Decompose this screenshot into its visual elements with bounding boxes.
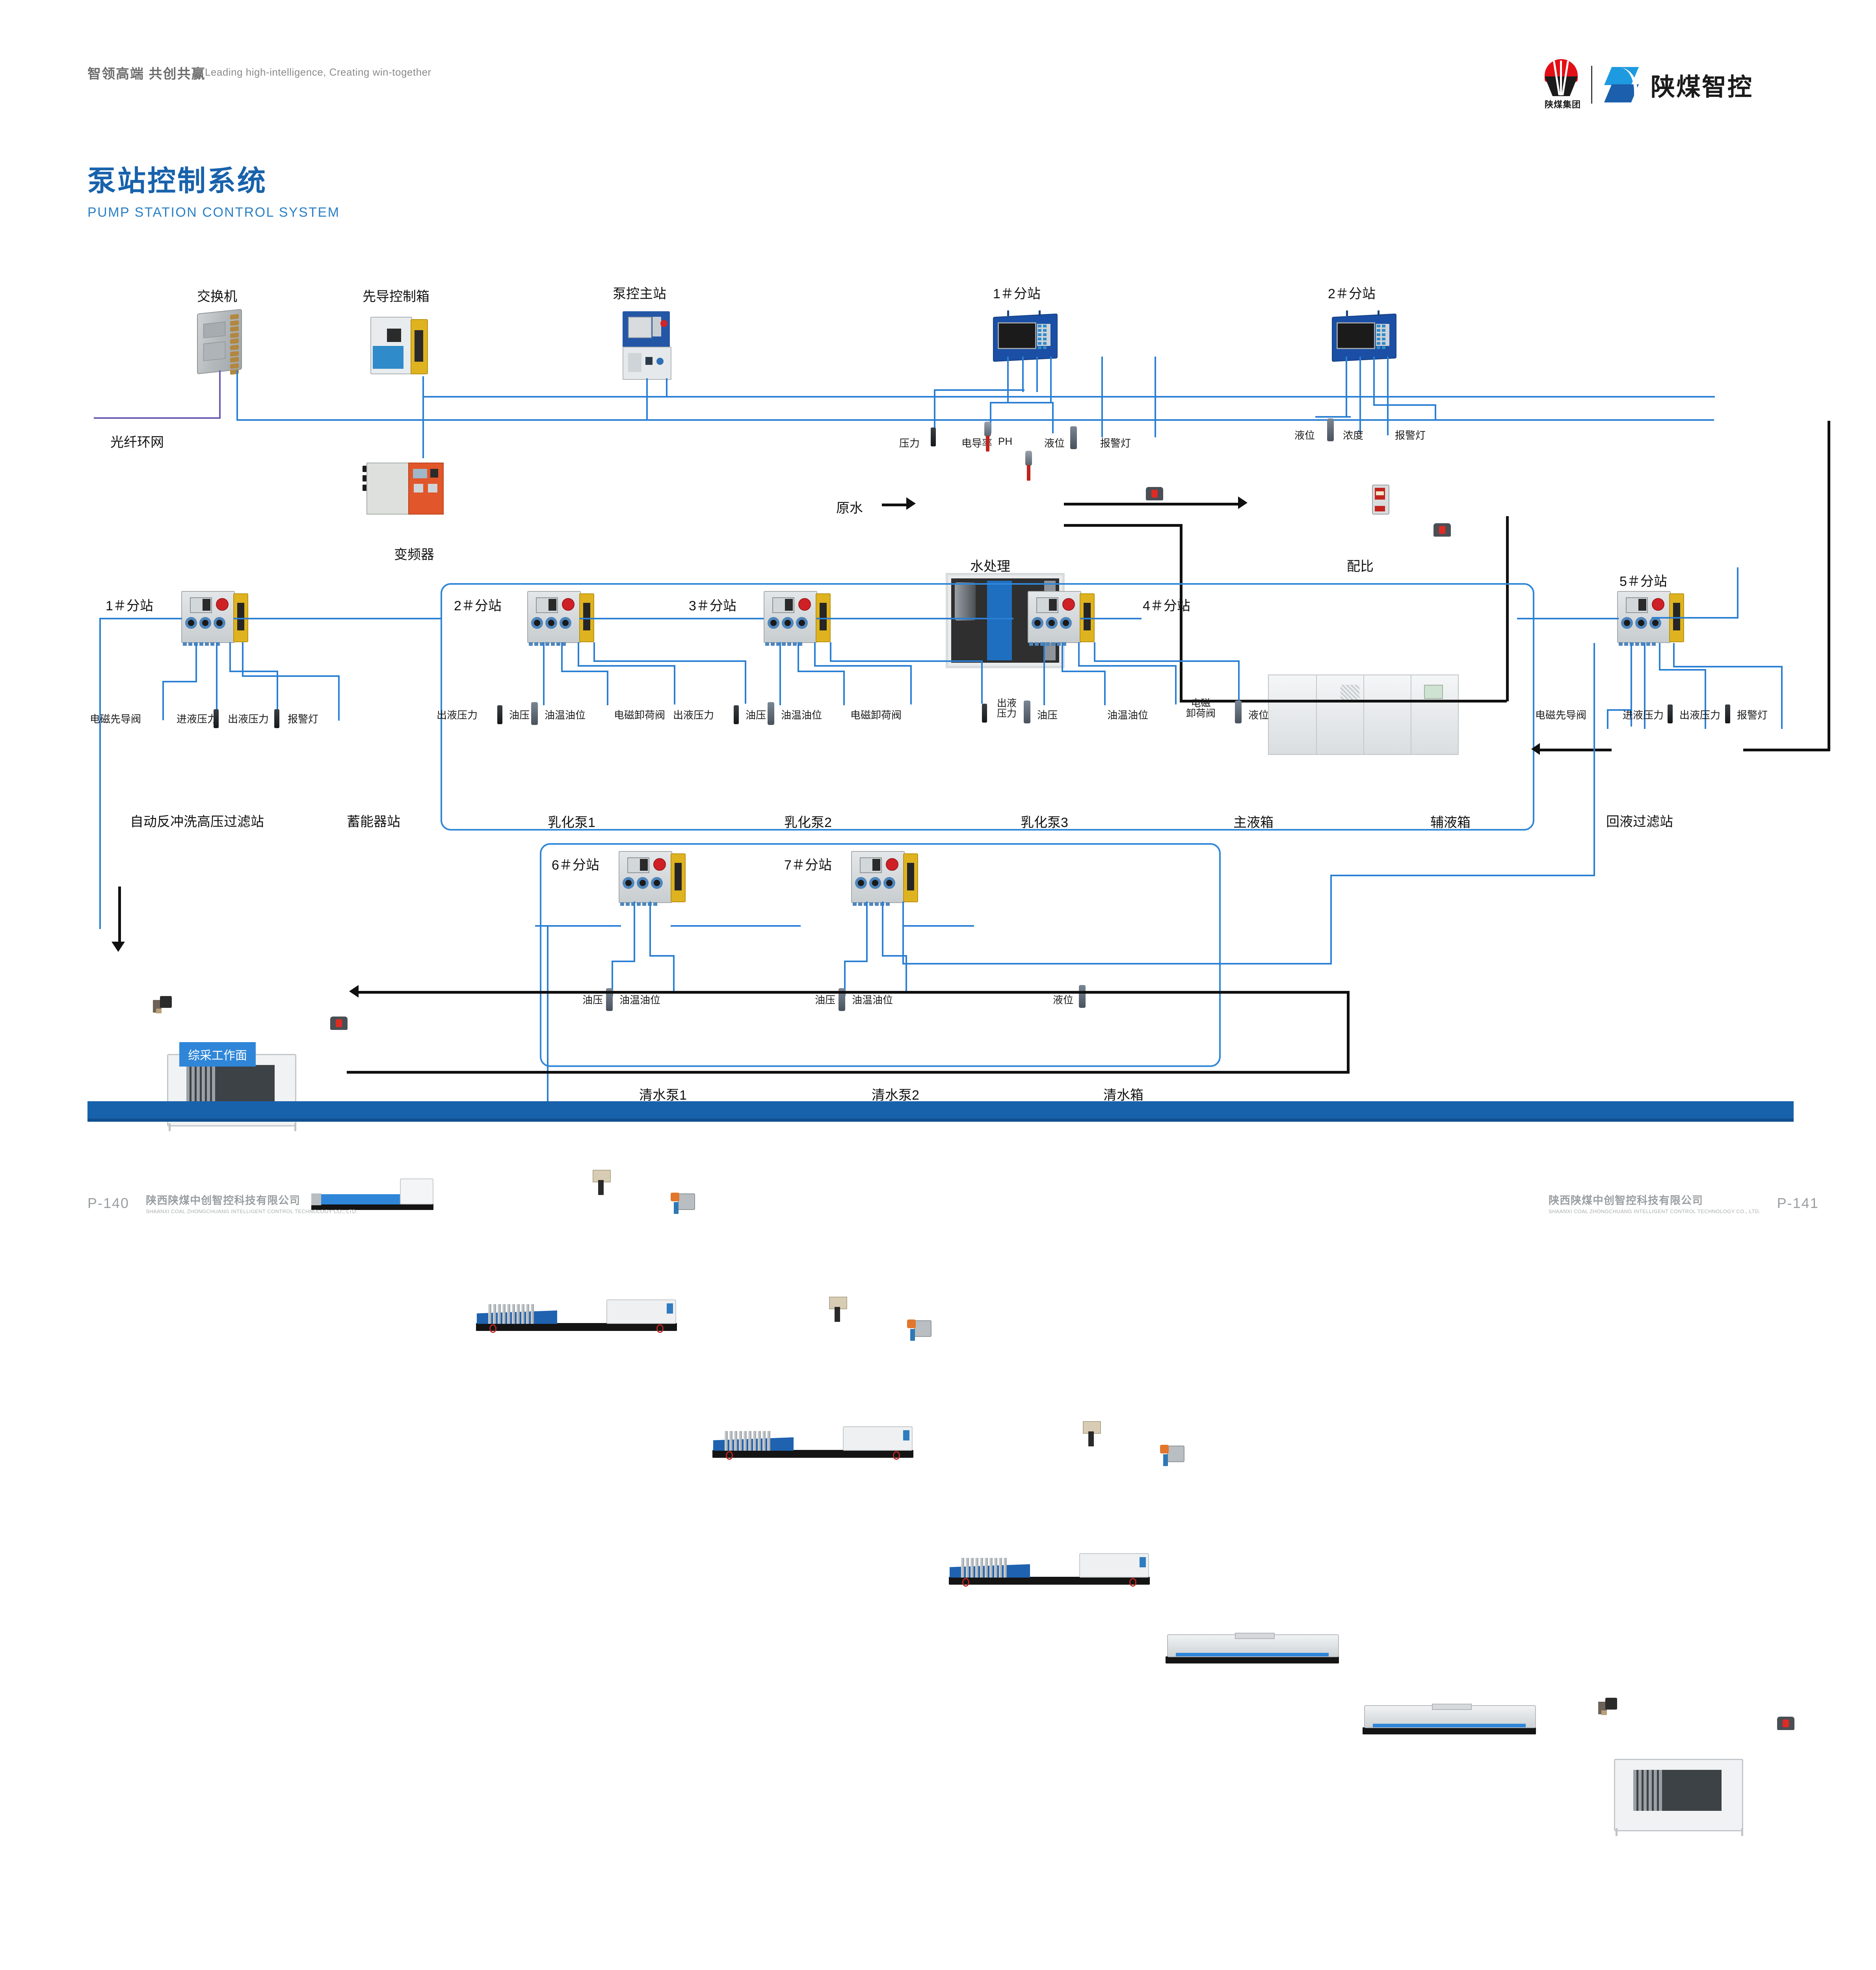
page-number-left: P-140	[87, 1195, 129, 1212]
label-top-substation-2: 2＃分站	[1328, 283, 1376, 302]
device-emulsion-pump-2	[712, 1379, 913, 1458]
outlet-pressure-icon-3	[734, 705, 739, 724]
device-return-filter	[1612, 1757, 1742, 1836]
wire-sub5-v1	[1607, 709, 1608, 729]
wire-sub5-d3	[1659, 643, 1660, 671]
label-substation-6: 6＃分站	[552, 854, 599, 873]
group-logo-icon	[1545, 59, 1578, 96]
label-accumulator: 蓄能器站	[347, 811, 400, 830]
wire-sub7-h1	[844, 961, 868, 962]
wire-msub4-d1	[1043, 642, 1045, 705]
wire-sub1-v3	[1052, 402, 1054, 433]
slogan-english: Leading high-intelligence, Creating win-…	[205, 66, 431, 78]
label-sensor-concentration: 浓度	[1343, 427, 1363, 442]
wire-sub7-out	[903, 925, 974, 927]
wire-msub2-d3	[578, 642, 579, 667]
label-vfd: 变频器	[394, 544, 434, 563]
label-oil-pressure-4: 油压	[1037, 707, 1058, 722]
label-sensor-level: 液位	[1044, 435, 1065, 450]
wire-sub1-h2	[990, 402, 1053, 403]
wire-msub1-d1	[195, 642, 197, 682]
wire-sub1-v5	[1155, 357, 1156, 437]
wire-sub2-v2	[1435, 404, 1436, 420]
wire-msub4-h1	[1062, 671, 1106, 672]
conductivity-sensor-icon	[984, 422, 991, 451]
label-alarm-lamp-mid-1: 报警灯	[288, 711, 318, 726]
alarm-lamp-icon-2	[1433, 523, 1451, 537]
outlet-pressure-icon-5	[1725, 704, 1730, 723]
label-oil-pressure-6: 油压	[582, 992, 603, 1007]
wire-sub1-v1	[934, 389, 935, 433]
device-mid-substation-3	[764, 591, 831, 641]
wire-msub2-v2	[674, 665, 675, 704]
outlet-pressure-icon-4	[982, 704, 987, 723]
device-substation-7	[851, 851, 918, 901]
solenoid-unload-valve-icon-2	[670, 1192, 694, 1215]
solenoid-unload-valve-icon-3	[906, 1319, 931, 1342]
page-title: 泵站控制系统	[87, 158, 267, 199]
label-oil-temp-level-3: 油温油位	[781, 707, 822, 722]
wire-msub2-d1	[543, 642, 545, 705]
label-oil-pressure-3: 油压	[746, 707, 766, 722]
outlet-pressure-icon-2	[497, 705, 502, 724]
wire-msub4-d4	[1094, 642, 1095, 662]
label-solenoid-pilot-valve-5: 电磁先导阀	[1535, 707, 1586, 722]
label-alarm-lamp-5: 报警灯	[1737, 707, 1768, 722]
wire-sub7-to-bus	[1330, 875, 1332, 965]
wire-sub2-d2	[1359, 357, 1361, 433]
alarm-lamp-icon	[1146, 487, 1163, 500]
outlet-pressure-icon-1	[274, 709, 279, 728]
label-outlet-pressure-4: 出液 压力	[997, 698, 1017, 719]
wire-msub4-h2	[1078, 665, 1177, 667]
label-outlet-pressure-1: 出液压力	[228, 711, 269, 726]
face-return-h2	[1231, 991, 1349, 994]
label-emulsion-pump-2: 乳化泵2	[784, 812, 832, 831]
wire-msub2-d4	[593, 642, 595, 662]
label-outlet-pressure-5: 出液压力	[1679, 707, 1720, 722]
wire-pilot-to-vfd	[422, 396, 424, 458]
decorative-bottom-bar	[87, 1101, 1794, 1119]
label-sensor-alarm-lamp-2: 报警灯	[1395, 427, 1426, 442]
label-pilot-control-box: 先导控制箱	[363, 286, 429, 305]
face-return-bottom	[347, 1071, 1350, 1074]
group-logo-label: 陕煤集团	[1545, 98, 1581, 110]
wire-sub7-v2	[905, 955, 907, 994]
label-mid-substation-4: 4＃分站	[1143, 595, 1190, 614]
wire-msub2-v1	[607, 671, 608, 705]
oil-temp-level-icon-2	[591, 1170, 613, 1195]
fiber-ring-drop	[219, 370, 221, 418]
wire-sub7-d3	[902, 901, 904, 965]
wire-sub1-d2	[1022, 357, 1024, 392]
label-outlet-pressure-3: 出液压力	[673, 707, 714, 722]
pressure-sensor-icon	[931, 427, 936, 446]
label-clean-tank-level: 液位	[1053, 992, 1073, 1007]
label-sensor-alarm-lamp: 报警灯	[1100, 435, 1131, 450]
return-flow-v	[1828, 421, 1830, 751]
label-return-filter: 回液过滤站	[1606, 811, 1673, 830]
alarm-lamp-icon-5	[1777, 1717, 1794, 1730]
face-feed-v	[118, 886, 121, 945]
wire-msub4-d3	[1078, 642, 1080, 667]
clean-tank-level-icon	[1079, 985, 1086, 1008]
label-raw-water: 原水	[836, 497, 863, 517]
ph-sensor-icon	[1025, 451, 1032, 480]
inlet-pressure-icon-5	[1668, 704, 1673, 723]
device-mid-substation-1	[181, 591, 248, 641]
wire-master-a	[646, 378, 648, 419]
label-tank-level-4: 液位	[1248, 707, 1269, 722]
raw-water-arrow-shaft	[882, 504, 909, 506]
wire-sub2-d1	[1346, 357, 1347, 418]
wire-sub2-h2	[1373, 404, 1436, 406]
wire-sub6-h2	[649, 955, 674, 957]
wire-sub1-d4	[1050, 357, 1052, 403]
device-substation-6	[619, 851, 686, 901]
label-proportioning: 配比	[1347, 556, 1374, 575]
label-aux-tank: 辅液箱	[1430, 812, 1471, 831]
device-mid-substation-4	[1028, 591, 1095, 641]
label-top-substation-1: 1＃分站	[993, 283, 1041, 302]
wire-msub1-v1	[162, 681, 164, 720]
level-sensor-icon	[1070, 426, 1077, 449]
face-feed-arrow	[112, 942, 125, 952]
solenoid-unload-valve-icon-4	[1159, 1444, 1184, 1467]
device-pump-master-station	[623, 311, 670, 378]
wire-sub2-d3	[1373, 357, 1375, 406]
wire-sub7-h3	[902, 963, 1332, 965]
wire-sub1-d3	[1036, 357, 1038, 392]
wire-sub2-h1	[1315, 416, 1351, 418]
label-clean-water-pump-2: 清水泵2	[872, 1084, 919, 1104]
return-flow-h1	[1537, 749, 1612, 751]
wire-bus-right	[1330, 875, 1595, 876]
wire-sub5-h2	[1659, 669, 1706, 671]
label-substation-7: 7＃分站	[784, 854, 832, 873]
wt-to-prop-head	[1238, 496, 1248, 509]
device-main-tank	[1166, 1593, 1339, 1663]
wire-sub5-h3	[1673, 666, 1783, 667]
label-water-treatment: 水处理	[970, 556, 1010, 575]
wire-msub3-v3	[981, 660, 983, 704]
wire-mid-sub2-out	[579, 618, 776, 619]
footer-right: 陕西陕煤中创智控科技有限公司 SHAANXI COAL ZHONGCHUANG …	[1549, 1192, 1819, 1214]
group-emulsion-pumps	[441, 583, 1534, 831]
solenoid-pilot-valve-icon-5	[1598, 1698, 1617, 1715]
brand-logo-group: 陕煤集团 陕煤智控	[1545, 59, 1753, 110]
wire-sub5-in	[1517, 618, 1619, 619]
wire-sub6-v2	[673, 955, 675, 994]
wire-mid-sub4-out	[1080, 618, 1142, 619]
wire-msub3-d2	[798, 642, 799, 672]
label-solenoid-pilot-valve-1: 电磁先导阀	[90, 711, 141, 726]
wire-msub3-h3	[830, 660, 983, 662]
zhikong-logo-icon	[1603, 67, 1640, 102]
label-main-tank: 主液箱	[1233, 812, 1274, 831]
label-solenoid-unload-valve-3: 电磁卸荷阀	[850, 707, 902, 722]
label-clean-water-tank: 清水箱	[1103, 1084, 1143, 1104]
company-name-cn-right: 陕西陕煤中创智控科技有限公司	[1549, 1192, 1761, 1207]
alarm-lamp-icon-mid-1	[330, 1017, 348, 1030]
label-sensor-ph: PH	[998, 435, 1012, 448]
device-vfd	[363, 457, 445, 516]
label-sensor-level-2: 液位	[1294, 427, 1315, 442]
wire-msub1-d3	[229, 642, 231, 672]
label-outlet-pressure-2: 出液压力	[437, 707, 478, 722]
wire-msub2-h3	[593, 660, 746, 662]
raw-water-arrow-head	[906, 497, 916, 510]
brand-name: 陕煤智控	[1651, 67, 1753, 102]
oil-pressure-icon-3	[768, 702, 774, 725]
label-clean-water-pump-1: 清水泵1	[639, 1084, 687, 1104]
wire-sub1-v4	[1101, 357, 1103, 437]
face-return-h	[355, 991, 1249, 994]
wire-msub1-h3	[242, 675, 340, 677]
label-oil-temp-level-7: 油温油位	[852, 992, 893, 1007]
wire-msub4-v2	[1175, 665, 1177, 704]
device-pilot-control-box	[370, 315, 429, 374]
label-fiber-ring-network: 光纤环网	[110, 431, 164, 451]
wire-msub1-d4	[242, 642, 244, 677]
wire-mid-sub1-down	[99, 618, 101, 929]
wire-msub1-v3	[338, 675, 340, 721]
label-mid-substation-3: 3＃分站	[689, 595, 736, 614]
wire-msub4-v3	[1238, 660, 1240, 704]
wire-mid-sub1-in	[99, 618, 182, 619]
wire-sub6-d1	[634, 901, 635, 961]
wire-mid-sub1-out	[233, 618, 442, 619]
device-switch	[197, 311, 242, 372]
wire-msub3-h2	[814, 665, 912, 667]
wire-msub1-h2	[229, 671, 277, 672]
label-solenoid-unload-valve-2: 电磁卸荷阀	[614, 707, 665, 722]
label-oil-temp-level-4: 油温油位	[1107, 707, 1148, 722]
wire-msub3-d3	[814, 642, 816, 667]
oil-pressure-icon-2	[531, 702, 538, 725]
wire-msub2-h1	[561, 671, 608, 672]
company-name-en-right: SHAANXI COAL ZHONGCHUANG INTELLIGENT CON…	[1549, 1208, 1761, 1214]
footer-left: P-140 陕西陕煤中创智控科技有限公司 SHAANXI COAL ZHONGC…	[87, 1192, 358, 1214]
device-substation-5	[1617, 591, 1684, 641]
label-sensor-pressure: 压力	[899, 435, 920, 450]
page-subtitle: PUMP STATION CONTROL SYSTEM	[87, 205, 340, 220]
company-block-right: 陕西陕煤中创智控科技有限公司 SHAANXI COAL ZHONGCHUANG …	[1549, 1192, 1761, 1214]
wt-out-h	[1064, 524, 1182, 527]
face-return-arrow	[349, 985, 359, 998]
label-working-face: 综采工作面	[179, 1042, 256, 1067]
wire-msub4-d2	[1062, 642, 1063, 672]
device-emulsion-pump-3	[949, 1506, 1150, 1585]
wire-sub5-d4	[1673, 643, 1675, 667]
wire-master-b	[666, 378, 667, 396]
device-aux-tank	[1363, 1663, 1536, 1734]
return-flow-arrow-1	[1531, 743, 1540, 755]
wire-sub6-h1	[612, 961, 635, 962]
wire-sub2-d4	[1387, 357, 1389, 435]
label-oil-pressure-7: 油压	[815, 992, 835, 1007]
tank-level-icon-4	[1235, 701, 1242, 723]
wire-msub3-v2	[910, 665, 912, 704]
shaanxi-coal-group-logo: 陕煤集团	[1545, 59, 1581, 110]
wt-to-prop-shaft	[1064, 503, 1241, 506]
label-substation-5: 5＃分站	[1619, 571, 1667, 590]
level-sensor-icon-2	[1327, 418, 1334, 441]
wire-sub5-v3	[1781, 666, 1783, 729]
wire-bus-right-up	[1593, 643, 1595, 875]
wire-msub4-v1	[1104, 671, 1106, 705]
solenoid-pilot-valve-icon-1	[153, 996, 172, 1013]
oil-temp-level-icon-3	[827, 1297, 850, 1322]
slogan-chinese: 智领高端 共创共赢	[87, 63, 205, 82]
wire-sub1-h1	[934, 389, 1024, 391]
label-pump-master-station: 泵控主站	[613, 283, 666, 302]
wire-mid-sub3-out	[816, 618, 1013, 619]
wire-pilot-horizontal	[422, 396, 1715, 398]
concentration-meter-icon	[1372, 485, 1389, 515]
device-mid-substation-2	[527, 591, 594, 641]
wire-msub4-h3	[1094, 660, 1240, 662]
wire-sub1-d1	[1007, 357, 1009, 403]
wire-sub6-out	[671, 925, 801, 927]
label-switch: 交换机	[197, 286, 237, 305]
wire-sub7-d1	[866, 901, 868, 961]
oil-temp-level-icon-4	[1081, 1421, 1103, 1446]
company-block-left: 陕西陕煤中创智控科技有限公司 SHAANXI COAL ZHONGCHUANG …	[146, 1192, 358, 1214]
fiber-ring-line	[94, 417, 221, 419]
label-mid-substation-1: 1＃分站	[106, 595, 153, 614]
wire-msub3-v1	[843, 671, 845, 705]
label-emulsion-pump-1: 乳化泵1	[548, 812, 595, 831]
oil-pressure-icon-4	[1024, 701, 1030, 723]
wire-msub3-h1	[798, 671, 845, 672]
wire-msub3-d1	[779, 642, 781, 705]
wire-sub7-d2	[882, 901, 883, 957]
page-number-right: P-141	[1777, 1195, 1819, 1212]
device-top-substation-2	[1332, 315, 1395, 359]
device-emulsion-pump-1	[476, 1252, 677, 1331]
label-backwash-filter: 自动反冲洗高压过滤站	[130, 811, 264, 830]
wire-sub6-d2	[649, 901, 651, 957]
wire-msub2-d2	[561, 642, 563, 672]
label-inlet-pressure-5: 进液压力	[1623, 707, 1664, 722]
wire-main-bus	[236, 419, 1714, 421]
wire-msub2-v3	[745, 660, 746, 704]
face-return-v	[1347, 991, 1350, 1074]
label-inlet-pressure-1: 进液压力	[177, 711, 218, 726]
wire-msub1-h1	[162, 681, 197, 682]
return-flow-h2	[1743, 749, 1830, 751]
inlet-pressure-icon-1	[214, 709, 219, 728]
label-oil-temp-level-6: 油温油位	[619, 992, 660, 1007]
label-oil-temp-level-2: 油温油位	[545, 707, 586, 722]
label-mid-substation-2: 2＃分站	[454, 595, 502, 614]
wire-sub5-top	[1737, 567, 1738, 619]
wire-msub2-h2	[578, 665, 675, 667]
label-oil-pressure-2: 油压	[509, 707, 530, 722]
label-solenoid-unload-valve-4: 电磁 卸荷阀	[1186, 698, 1216, 719]
company-name-cn-left: 陕西陕煤中创智控科技有限公司	[146, 1192, 358, 1207]
logo-divider	[1591, 66, 1592, 104]
company-name-en-left: SHAANXI COAL ZHONGCHUANG INTELLIGENT CON…	[146, 1208, 358, 1214]
wire-sub6-down	[547, 925, 548, 1103]
wire-sub5-top-h	[1652, 617, 1738, 619]
label-emulsion-pump-3: 乳化泵3	[1021, 812, 1068, 831]
wire-msub3-d4	[830, 642, 831, 662]
device-top-substation-1	[993, 315, 1056, 359]
wire-switch-bus	[236, 370, 238, 421]
